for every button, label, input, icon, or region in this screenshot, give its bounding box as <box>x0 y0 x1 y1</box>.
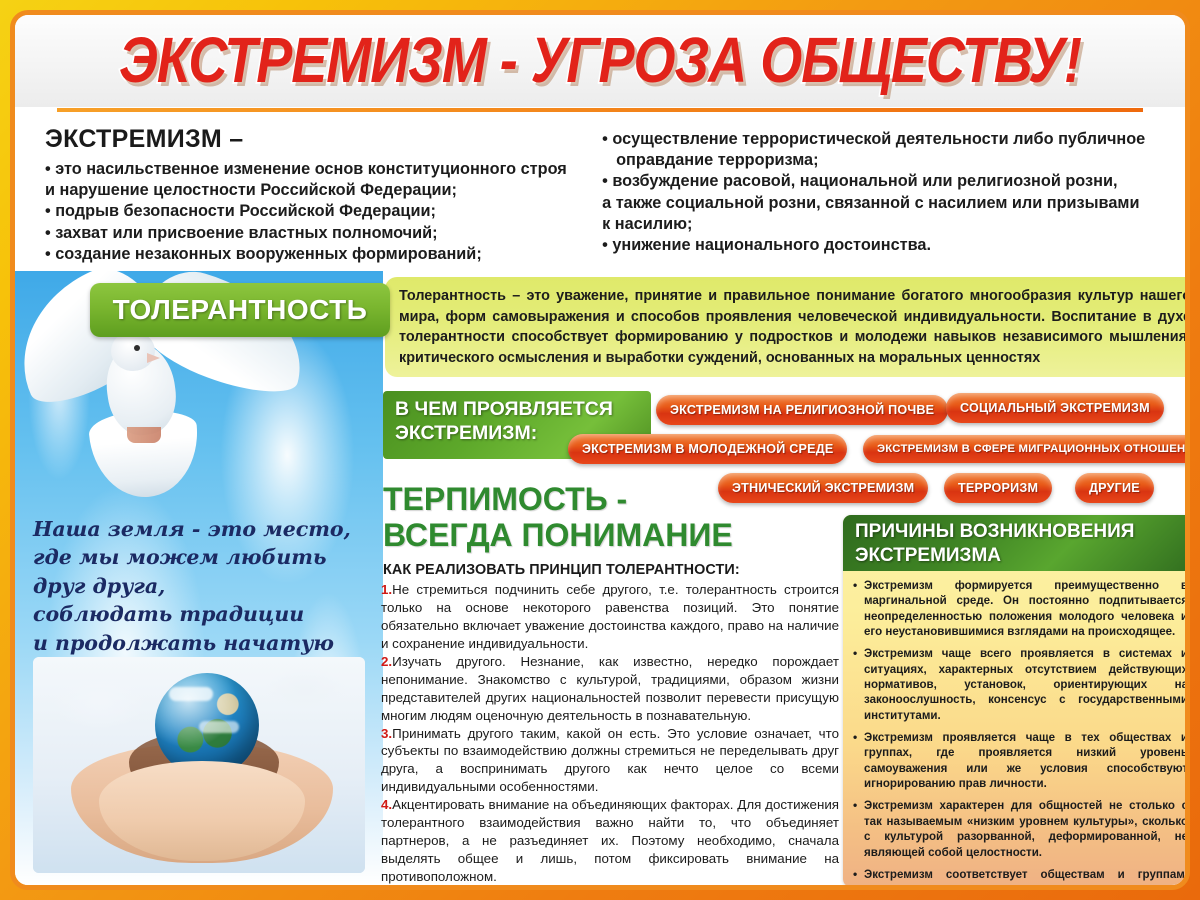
principle-number: 3. <box>381 726 392 741</box>
principle-item: 4.Акцентировать внимание на объединяющих… <box>381 796 839 886</box>
principle-item: 1.Не стремиться подчинить себе другого, … <box>381 581 839 653</box>
definition-section: ЭКСТРЕМИЗМ – • это насильственное измене… <box>15 119 1185 271</box>
principle-number: 1. <box>381 582 392 597</box>
causes-list: Экстремизм формируется преимущественно в… <box>843 571 1190 887</box>
definition-right-line: а также социальной розни, связанной с на… <box>602 193 1169 214</box>
definition-right-column: • осуществление террористической деятель… <box>602 125 1169 271</box>
extremism-type-pill[interactable]: ЭКСТРЕМИЗМ НА РЕЛИГИОЗНОЙ ПОЧВЕ <box>656 395 948 425</box>
principle-text: Принимать другого таким, какой он есть. … <box>381 726 839 795</box>
tolerance-principles-heading: ТЕРПИМОСТЬ - ВСЕГДА ПОНИМАНИЕ <box>383 481 823 553</box>
definition-left-line: и нарушение целостности Российской Федер… <box>45 180 602 201</box>
principle-item: 5.Чувство юмора. Способность посмеяться … <box>381 886 839 890</box>
cause-item: Экстремизм соответствует обществам и гру… <box>853 868 1188 887</box>
extremism-type-pill[interactable]: ДРУГИЕ <box>1075 473 1154 503</box>
poem-line: соблюдать традиции <box>33 600 377 628</box>
extremism-type-pill[interactable]: ЭКСТРЕМИЗМ В МОЛОДЕЖНОЙ СРЕДЕ <box>568 434 847 464</box>
principle-text: Изучать другого. Незнание, как известно,… <box>381 654 839 723</box>
extremism-type-pill[interactable]: СОЦИАЛЬНЫЙ ЭКСТРЕМИЗМ <box>946 393 1164 423</box>
definition-heading: ЭКСТРЕМИЗМ – <box>45 125 602 154</box>
principle-number: 2. <box>381 654 392 669</box>
tolerance-principles-heading-line2: ВСЕГДА ПОНИМАНИЕ <box>383 517 823 553</box>
poem-line: где мы можем любить друг друга, <box>33 543 377 600</box>
cause-item: Экстремизм формируется преимущественно в… <box>853 579 1188 640</box>
definition-right-line: оправдание терроризма; <box>602 150 1169 171</box>
extremism-type-pill[interactable]: ЭКСТРЕМИЗМ В СФЕРЕ МИГРАЦИОННЫХ ОТНОШЕНИ… <box>863 435 1190 463</box>
tolerance-badge: ТОЛЕРАНТНОСТЬ <box>90 283 390 337</box>
causes-panel: ПРИЧИНЫ ВОЗНИКНОВЕНИЯ ЭКСТРЕМИЗМА Экстре… <box>843 515 1190 887</box>
definition-right-line: • унижение национального достоинства. <box>602 235 1169 256</box>
definition-left-line: • захват или присвоение властных полномо… <box>45 223 602 244</box>
poster-title: ЭКСТРЕМИЗМ - УГРОЗА ОБЩЕСТВУ! <box>119 24 1081 97</box>
principle-item: 2.Изучать другого. Незнание, как известн… <box>381 653 839 725</box>
causes-heading-line2: ЭКСТРЕМИЗМА <box>855 544 1190 568</box>
cause-item: Экстремизм чаще всего проявляется в сист… <box>853 647 1188 724</box>
cause-item: Экстремизм проявляется чаще в тех общест… <box>853 731 1188 792</box>
principle-item: 3.Принимать другого таким, какой он есть… <box>381 725 839 797</box>
poster-inner-frame: ЭКСТРЕМИЗМ - УГРОЗА ОБЩЕСТВУ! ЭКСТРЕМИЗМ… <box>10 10 1190 890</box>
title-divider <box>57 108 1143 112</box>
principle-number: 5. <box>381 887 392 890</box>
principle-text: Акцентировать внимание на объединяющих ф… <box>381 797 839 884</box>
tolerance-principles-heading-line1: ТЕРПИМОСТЬ - <box>383 481 823 517</box>
hands-holding-globe-image <box>33 657 365 873</box>
poster-root: ЭКСТРЕМИЗМ - УГРОЗА ОБЩЕСТВУ! ЭКСТРЕМИЗМ… <box>0 0 1200 900</box>
title-bar: ЭКСТРЕМИЗМ - УГРОЗА ОБЩЕСТВУ! <box>15 15 1185 107</box>
tolerance-description-text: Толерантность – это уважение, принятие и… <box>399 286 1190 368</box>
definition-right-line: к насилию; <box>602 214 1169 235</box>
causes-heading-line1: ПРИЧИНЫ ВОЗНИКНОВЕНИЯ <box>855 520 1190 544</box>
tolerance-badge-label: ТОЛЕРАНТНОСТЬ <box>113 294 368 326</box>
definition-right-line: • осуществление террористической деятель… <box>602 129 1169 150</box>
dove-head <box>111 331 155 371</box>
principle-text: Чувство юмора. Способность посмеяться на… <box>381 887 839 890</box>
extremism-type-pill[interactable]: ТЕРРОРИЗМ <box>944 473 1052 503</box>
poem-line: Наша земля - это место, <box>33 515 377 543</box>
principle-number: 4. <box>381 797 392 812</box>
left-photo-column: Наша земля - это место, где мы можем люб… <box>15 271 383 885</box>
manifest-heading-line1: В ЧЕМ ПРОЯВЛЯЕТСЯ <box>395 398 651 422</box>
causes-heading-block: ПРИЧИНЫ ВОЗНИКНОВЕНИЯ ЭКСТРЕМИЗМА <box>843 515 1190 571</box>
definition-right-line: • возбуждение расовой, национальной или … <box>602 171 1169 192</box>
definition-left-line: • подрыв безопасности Российской Федерац… <box>45 201 602 222</box>
definition-left-line: • создание незаконных вооруженных формир… <box>45 244 602 265</box>
dove-eye <box>134 345 140 351</box>
globe-cloud <box>199 721 239 733</box>
tolerance-principles-subheading: КАК РЕАЛИЗОВАТЬ ПРИНЦИП ТОЛЕРАНТНОСТИ: <box>383 562 833 578</box>
dove-beak <box>147 353 160 363</box>
tolerance-description-box: Толерантность – это уважение, принятие и… <box>385 277 1190 377</box>
cause-item: Экстремизм характерен для общностей не с… <box>853 799 1188 860</box>
definition-left-line: • это насильственное изменение основ кон… <box>45 159 602 180</box>
dove-feet <box>127 427 161 443</box>
definition-left-column: ЭКСТРЕМИЗМ – • это насильственное измене… <box>45 125 602 271</box>
tolerance-principles-list: 1.Не стремиться подчинить себе другого, … <box>381 581 839 890</box>
principle-text: Не стремиться подчинить себе другого, т.… <box>381 582 839 651</box>
globe-cloud <box>169 687 213 701</box>
